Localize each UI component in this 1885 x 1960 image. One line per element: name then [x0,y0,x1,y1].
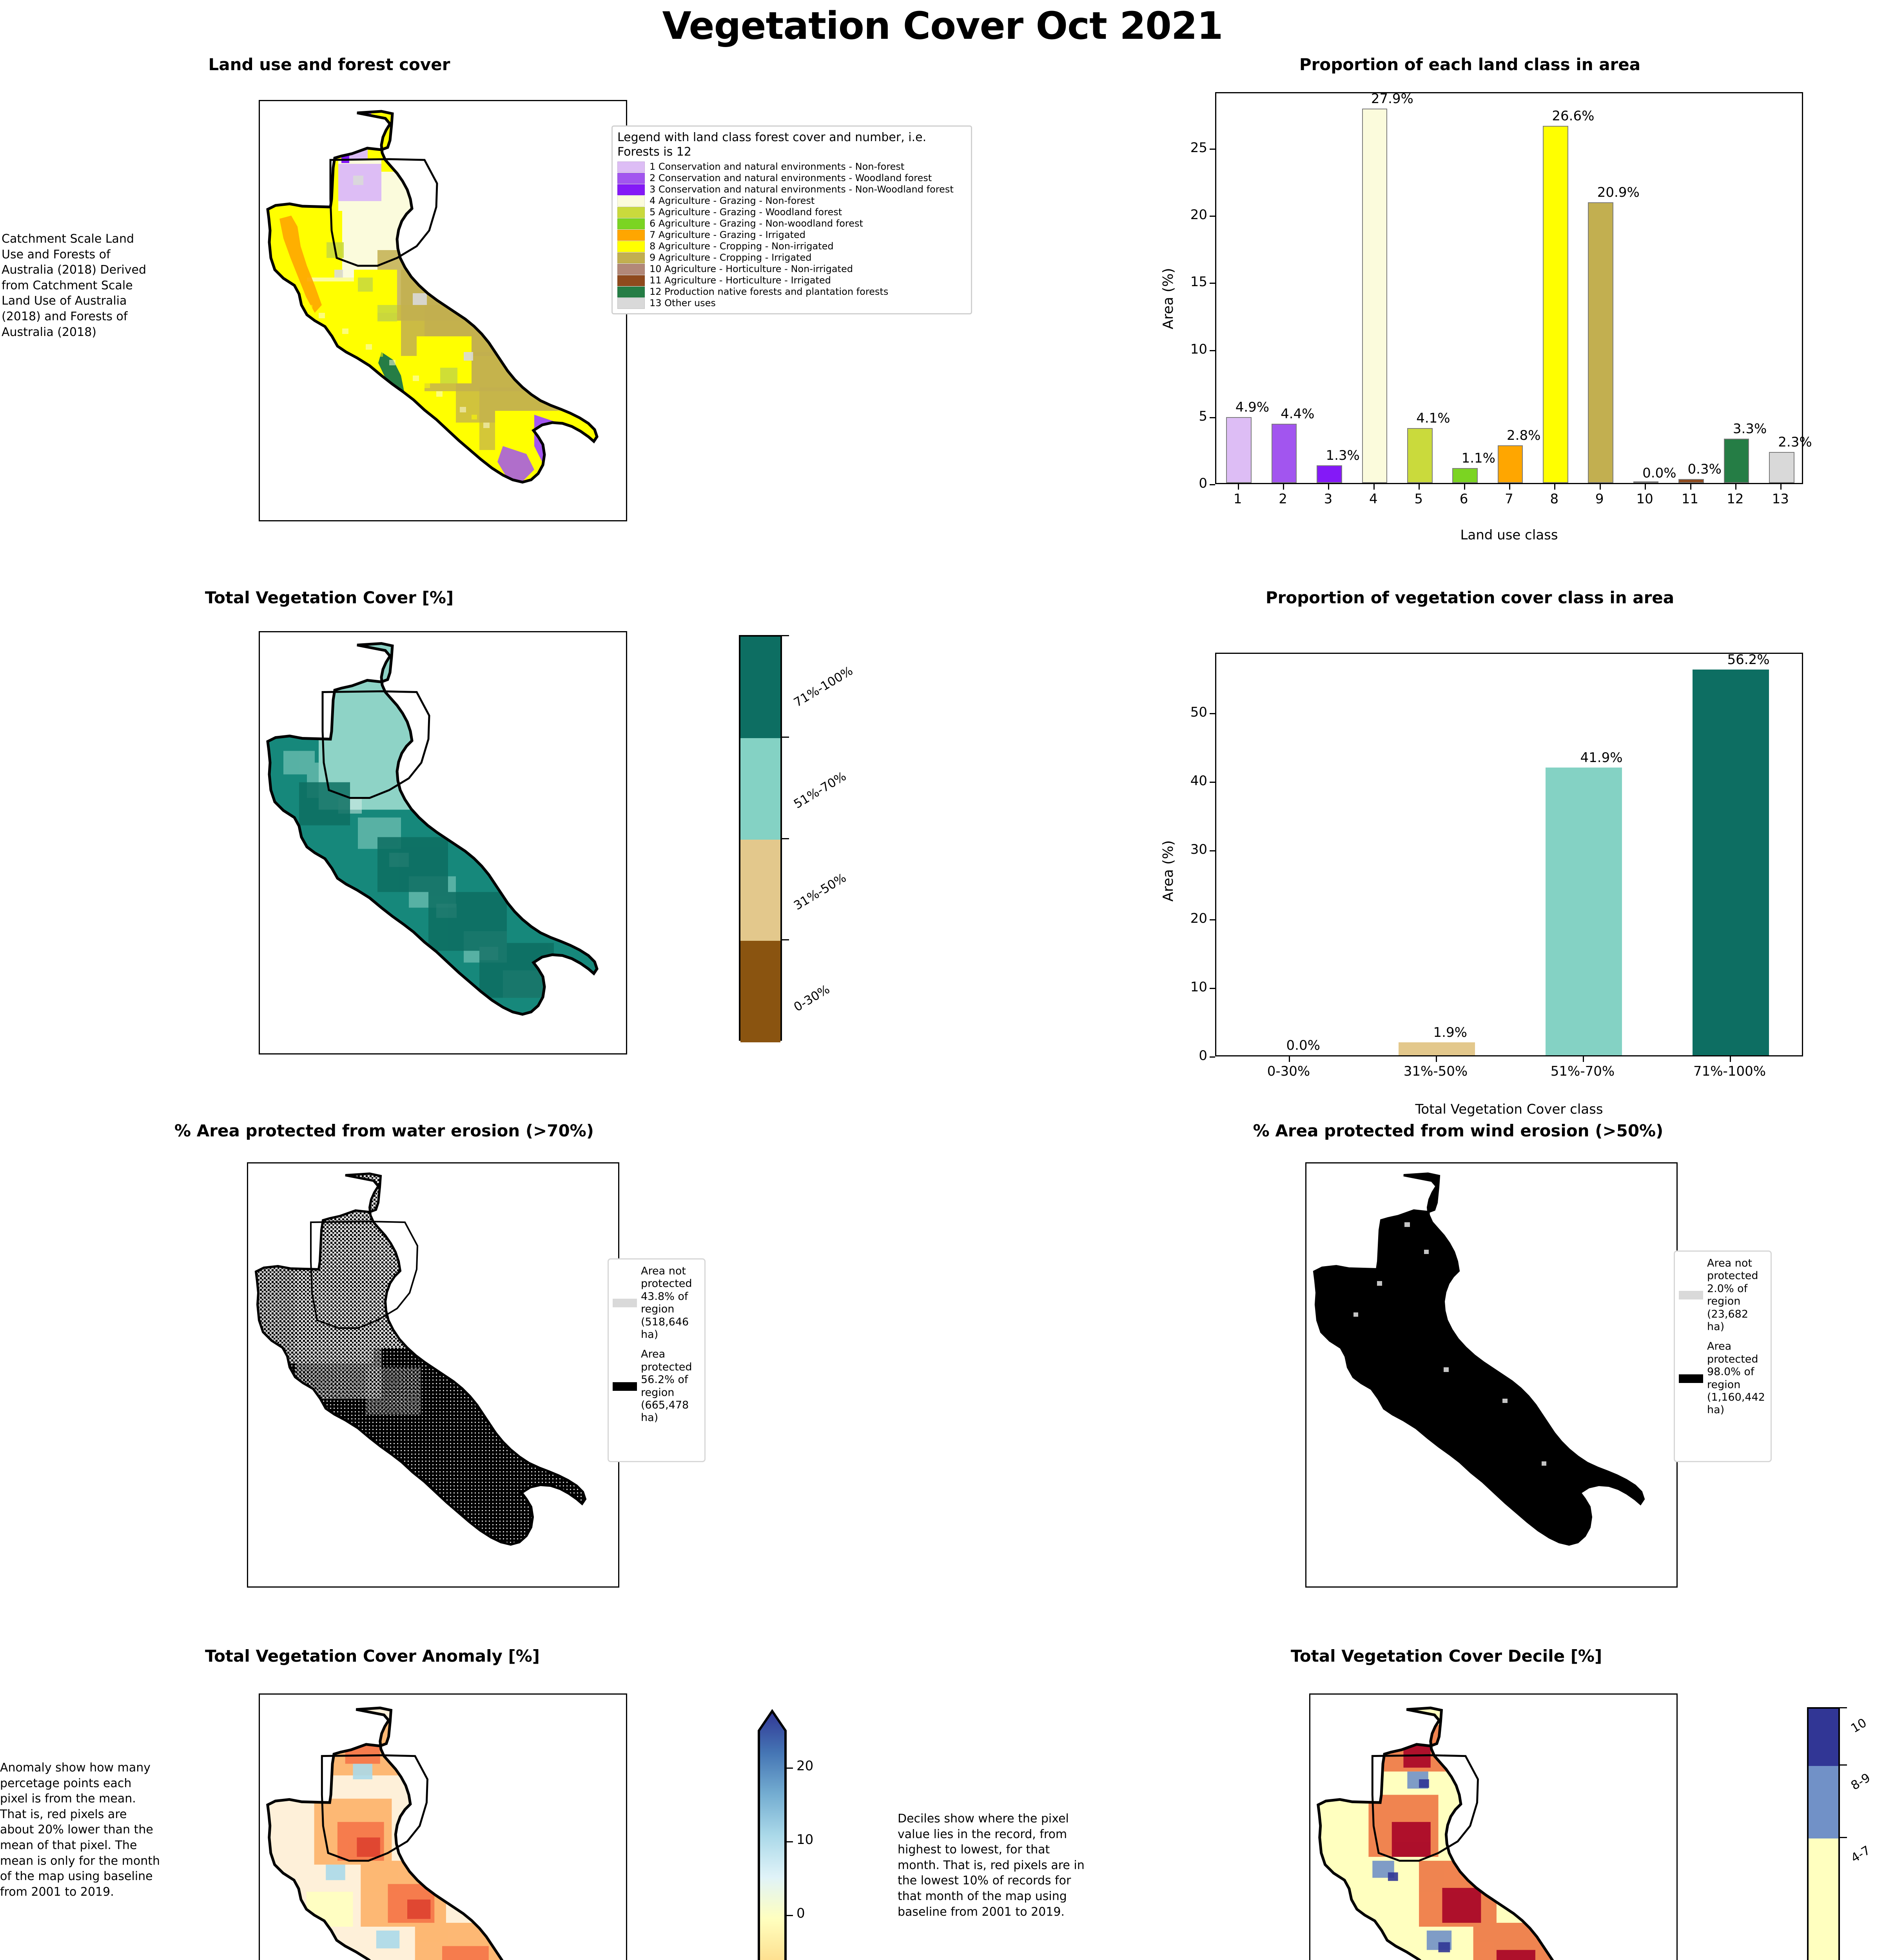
not-protected-swatch [613,1299,637,1307]
y-axis-tick-mark [1210,484,1215,485]
x-axis-tick-mark [1554,484,1555,490]
bar-value-label: 27.9% [1371,91,1413,107]
x-axis-tick-label: 6 [1441,491,1486,507]
y-axis-tick-label: 40 [1172,773,1207,789]
land-use-legend-item: 6 Agriculture - Grazing - Non-woodland f… [617,218,966,229]
x-axis-tick-mark [1419,484,1420,490]
panel-title-land-use: Land use and forest cover [133,55,525,74]
veg-cover-colorbar [739,635,782,1041]
y-axis-tick-mark [1210,417,1215,418]
bar[interactable] [1543,126,1568,483]
wind-erosion-map-svg [1306,1163,1678,1588]
veg-cover-colorbar-segment [740,840,780,941]
wind-erosion-map[interactable] [1305,1162,1678,1588]
x-axis-tick-label: 13 [1758,491,1803,507]
bar[interactable] [1769,452,1794,483]
bar[interactable] [1693,670,1769,1055]
not-protected-label: Area not protected 43.8% of region (518,… [641,1265,700,1341]
protected-swatch [613,1382,637,1391]
bar-value-label: 0.3% [1688,461,1722,477]
veg-cover-map[interactable] [259,631,627,1054]
x-axis-tick-mark [1283,484,1284,490]
veg-class-bar-chart[interactable]: Area (%) Total Vegetation Cover class 0.… [1137,588,1823,1086]
anomaly-colorbar-tick [786,1841,793,1842]
decile-note: Deciles show where the pixel value lies … [898,1811,1090,1920]
x-axis-tick-label: 31%-50% [1362,1063,1509,1079]
land-use-legend-item: 5 Agriculture - Grazing - Woodland fores… [617,207,966,218]
land-use-legend: Legend with land class forest cover and … [611,125,972,314]
x-axis-tick-label: 9 [1577,491,1622,507]
x-axis-tick-label: 2 [1260,491,1305,507]
bar[interactable] [1546,768,1622,1055]
y-axis-tick-label: 0 [1172,1048,1207,1063]
x-axis-tick-label: 11 [1667,491,1713,507]
y-axis-tick-mark [1210,919,1215,920]
y-axis-tick-label: 30 [1172,842,1207,857]
bar[interactable] [1407,428,1433,483]
water-erosion-legend-row-protected: Area protected 56.2% of region (665,478 … [613,1348,700,1424]
x-axis-tick-label: 71%-100% [1656,1063,1803,1079]
land-use-legend-item: 7 Agriculture - Grazing - Irrigated [617,230,966,241]
anomaly-colorbar [757,1707,788,1960]
source-note: Catchment Scale Land Use and Forests of … [2,231,158,340]
land-class-label: 5 Agriculture - Grazing - Woodland fores… [649,207,842,218]
x-axis-tick-mark [1238,484,1239,490]
protected-swatch [1679,1374,1703,1383]
decile-colorbar [1807,1707,1840,1960]
land-class-swatch [617,230,645,241]
land-class-swatch [617,252,645,263]
x-axis-tick-label: 10 [1622,491,1667,507]
x-axis-tick-mark [1373,484,1375,490]
land-class-bar-chart[interactable]: Area (%) Land use class 4.9%14.4%21.3%32… [1137,78,1823,568]
x-axis-tick-mark [1690,484,1691,490]
bar-value-label: 20.9% [1597,185,1640,200]
protected-label: Area protected 56.2% of region (665,478 … [641,1348,700,1424]
decile-colorbar-label: 8-9 [1849,1771,1873,1793]
chart0-xlabel: Land use class [1215,527,1803,543]
decile-colorbar-segment [1809,1709,1838,1766]
bar[interactable] [1272,424,1297,483]
y-axis-tick-label: 10 [1172,341,1207,357]
water-erosion-legend: Area not protected 43.8% of region (518,… [608,1258,706,1462]
y-axis-tick-label: 10 [1172,979,1207,995]
land-class-swatch [617,173,645,184]
y-axis-tick-mark [1210,149,1215,150]
land-class-swatch [617,218,645,229]
bar[interactable] [1226,417,1252,483]
land-class-swatch [617,241,645,252]
y-axis-tick-label: 0 [1172,475,1207,491]
y-axis-tick-label: 25 [1172,140,1207,156]
land-class-label: 3 Conservation and natural environments … [649,184,954,195]
x-axis-tick-mark [1583,1056,1584,1062]
x-axis-tick-label: 0-30% [1215,1063,1362,1079]
land-class-swatch [617,162,645,172]
bar-value-label: 26.6% [1552,108,1594,124]
bar-value-label: 0.0% [1286,1038,1320,1053]
land-use-legend-item: 2 Conservation and natural environments … [617,173,966,184]
bar-value-label: 0.0% [1642,465,1676,481]
bar-value-label: 1.1% [1462,450,1495,466]
water-erosion-map[interactable] [247,1162,619,1588]
bar-value-label: 2.3% [1778,434,1812,450]
land-use-legend-item: 8 Agriculture - Cropping - Non-irrigated [617,241,966,252]
panel-title-veg-cover: Total Vegetation Cover [%] [133,588,525,607]
x-axis-tick-mark [1509,484,1510,490]
anomaly-colorbar-tick [786,1768,793,1769]
decile-colorbar-tick [1840,1764,1847,1766]
veg-cover-colorbar-label: 0-30% [791,982,832,1014]
land-use-legend-item: 1 Conservation and natural environments … [617,162,966,172]
chart0-plot-area [1215,92,1803,484]
not-protected-label: Area not protected 2.0% of region (23,68… [1707,1257,1766,1333]
y-axis-tick-mark [1210,782,1215,783]
decile-map-svg [1310,1695,1678,1960]
land-class-label: 6 Agriculture - Grazing - Non-woodland f… [649,218,863,229]
land-class-swatch [617,207,645,218]
wind-erosion-legend: Area not protected 2.0% of region (23,68… [1674,1250,1772,1462]
x-axis-tick-label: 12 [1713,491,1758,507]
veg-cover-colorbar-tick [782,635,789,636]
land-use-legend-item: 10 Agriculture - Horticulture - Non-irri… [617,264,966,275]
x-axis-tick-mark [1600,484,1601,490]
anomaly-colorbar-label: 10 [796,1832,813,1847]
land-use-legend-item: 4 Agriculture - Grazing - Non-forest [617,196,966,207]
veg-cover-colorbar-label: 31%-50% [791,871,849,913]
panel-title-water-erosion: % Area protected from water erosion (>70… [90,1121,678,1140]
y-axis-tick-mark [1210,216,1215,217]
land-use-legend-item: 3 Conservation and natural environments … [617,184,966,195]
wind-erosion-legend-row-not-protected: Area not protected 2.0% of region (23,68… [1679,1257,1767,1333]
bar-value-label: 2.8% [1507,428,1540,443]
x-axis-tick-label: 51%-70% [1509,1063,1656,1079]
land-use-legend-item: 11 Agriculture - Horticulture - Irrigate… [617,275,966,286]
water-erosion-map-svg [248,1163,619,1588]
chart1-plot-area [1215,653,1803,1056]
land-class-swatch [617,196,645,207]
bar[interactable] [1498,445,1523,483]
veg-cover-colorbar-segment [740,941,780,1042]
bar-value-label: 4.4% [1281,406,1314,422]
not-protected-swatch [1679,1291,1703,1299]
y-axis-tick-mark [1210,850,1215,851]
veg-cover-map-svg [260,632,627,1054]
x-axis-tick-mark [1780,484,1782,490]
bar-value-label: 3.3% [1733,421,1767,437]
veg-cover-colorbar-label: 71%-100% [791,664,855,710]
bar-value-label: 4.1% [1416,410,1450,426]
decile-colorbar-tick [1840,1837,1847,1838]
x-axis-tick-mark [1328,484,1329,490]
land-class-swatch [617,264,645,275]
bar-value-label: 41.9% [1580,750,1623,766]
land-class-swatch [617,287,645,298]
x-axis-tick-mark [1436,1056,1437,1062]
y-axis-tick-mark [1210,713,1215,714]
bar[interactable] [1452,468,1478,483]
y-axis-tick-mark [1210,1056,1215,1058]
anomaly-colorbar-label: 0 [796,1906,805,1921]
veg-cover-colorbar-segment [740,738,780,840]
x-axis-tick-label: 4 [1351,491,1396,507]
veg-cover-colorbar-tick [782,737,789,738]
y-axis-tick-mark [1210,988,1215,989]
x-axis-tick-label: 1 [1215,491,1260,507]
land-class-label: 7 Agriculture - Grazing - Irrigated [649,230,806,241]
land-class-label: 8 Agriculture - Cropping - Non-irrigated [649,241,834,252]
decile-colorbar-segment [1809,1838,1838,1960]
veg-cover-colorbar-label: 51%-70% [791,769,849,811]
land-class-swatch [617,275,645,286]
x-axis-tick-mark [1645,484,1646,490]
panel-title-wind-erosion: % Area protected from wind erosion (>50%… [1145,1121,1772,1140]
bar[interactable] [1317,465,1342,483]
decile-colorbar-label: 10 [1849,1716,1869,1736]
bar[interactable] [1678,479,1704,483]
anomaly-map-svg [260,1695,627,1960]
anomaly-note: Anomaly show how many percetage points e… [0,1760,161,1900]
anomaly-map[interactable] [259,1693,627,1960]
panel-title-anomaly: Total Vegetation Cover Anomaly [%] [98,1646,647,1666]
bar-value-label: 1.9% [1433,1025,1467,1040]
land-use-legend-item: 13 Other uses [617,298,966,309]
x-axis-tick-mark [1735,484,1736,490]
land-use-legend-item: 9 Agriculture - Cropping - Irrigated [617,252,966,263]
anomaly-colorbar-svg [757,1707,788,1960]
x-axis-tick-label: 8 [1532,491,1577,507]
panel-title-decile: Total Vegetation Cover Decile [%] [1152,1646,1740,1666]
veg-cover-colorbar-tick [782,838,789,839]
x-axis-tick-mark [1464,484,1465,490]
y-axis-tick-label: 15 [1172,274,1207,290]
land-use-legend-item: 12 Production native forests and plantat… [617,287,966,298]
x-axis-tick-label: 3 [1306,491,1351,507]
bar[interactable] [1633,481,1659,483]
decile-colorbar-label: 4-7 [1849,1843,1873,1866]
land-class-label: 2 Conservation and natural environments … [649,173,932,184]
water-erosion-legend-row-not-protected: Area not protected 43.8% of region (518,… [613,1265,700,1341]
y-axis-tick-label: 5 [1172,408,1207,424]
anomaly-colorbar-label: 20 [796,1758,813,1774]
x-axis-tick-label: 5 [1396,491,1441,507]
decile-colorbar-tick [1840,1707,1847,1708]
decile-colorbar-segment [1809,1766,1838,1839]
veg-cover-colorbar-segment [740,637,780,738]
panel-title-land-class-chart: Proportion of each land class in area [1098,55,1842,74]
y-axis-tick-label: 20 [1172,207,1207,223]
bar[interactable] [1588,202,1613,483]
legend-heading: Legend with land class forest cover and … [617,131,966,159]
bar[interactable] [1724,439,1749,483]
land-use-map[interactable] [259,100,627,521]
land-class-label: 10 Agriculture - Horticulture - Non-irri… [649,264,853,275]
land-class-label: 11 Agriculture - Horticulture - Irrigate… [649,275,831,286]
veg-cover-colorbar-tick [782,939,789,940]
x-axis-tick-label: 7 [1486,491,1531,507]
bar-value-label: 1.3% [1326,448,1359,463]
protected-label: Area protected 98.0% of region (1,160,44… [1707,1340,1766,1416]
land-class-swatch [617,298,645,309]
wind-erosion-legend-row-protected: Area protected 98.0% of region (1,160,44… [1679,1340,1767,1416]
land-class-label: 9 Agriculture - Cropping - Irrigated [649,252,812,263]
y-axis-tick-mark [1210,283,1215,284]
page-title: Vegetation Cover Oct 2021 [0,4,1885,48]
y-axis-tick-label: 20 [1172,911,1207,926]
y-axis-tick-label: 50 [1172,704,1207,720]
bar-value-label: 56.2% [1727,652,1770,668]
land-use-map-svg [260,101,627,521]
bar[interactable] [1362,109,1388,483]
land-class-label: 1 Conservation and natural environments … [649,162,904,172]
x-axis-tick-mark [1289,1056,1290,1062]
chart1-xlabel: Total Vegetation Cover class [1215,1102,1803,1117]
anomaly-colorbar-tick [786,1915,793,1916]
bar-value-label: 4.9% [1236,399,1269,415]
x-axis-tick-mark [1730,1056,1731,1062]
land-class-label: 12 Production native forests and plantat… [649,287,888,298]
bar[interactable] [1399,1042,1475,1055]
land-class-label: 4 Agriculture - Grazing - Non-forest [649,196,815,207]
decile-map[interactable] [1309,1693,1678,1960]
land-class-swatch [617,184,645,195]
land-class-label: 13 Other uses [649,298,716,309]
y-axis-tick-mark [1210,350,1215,351]
